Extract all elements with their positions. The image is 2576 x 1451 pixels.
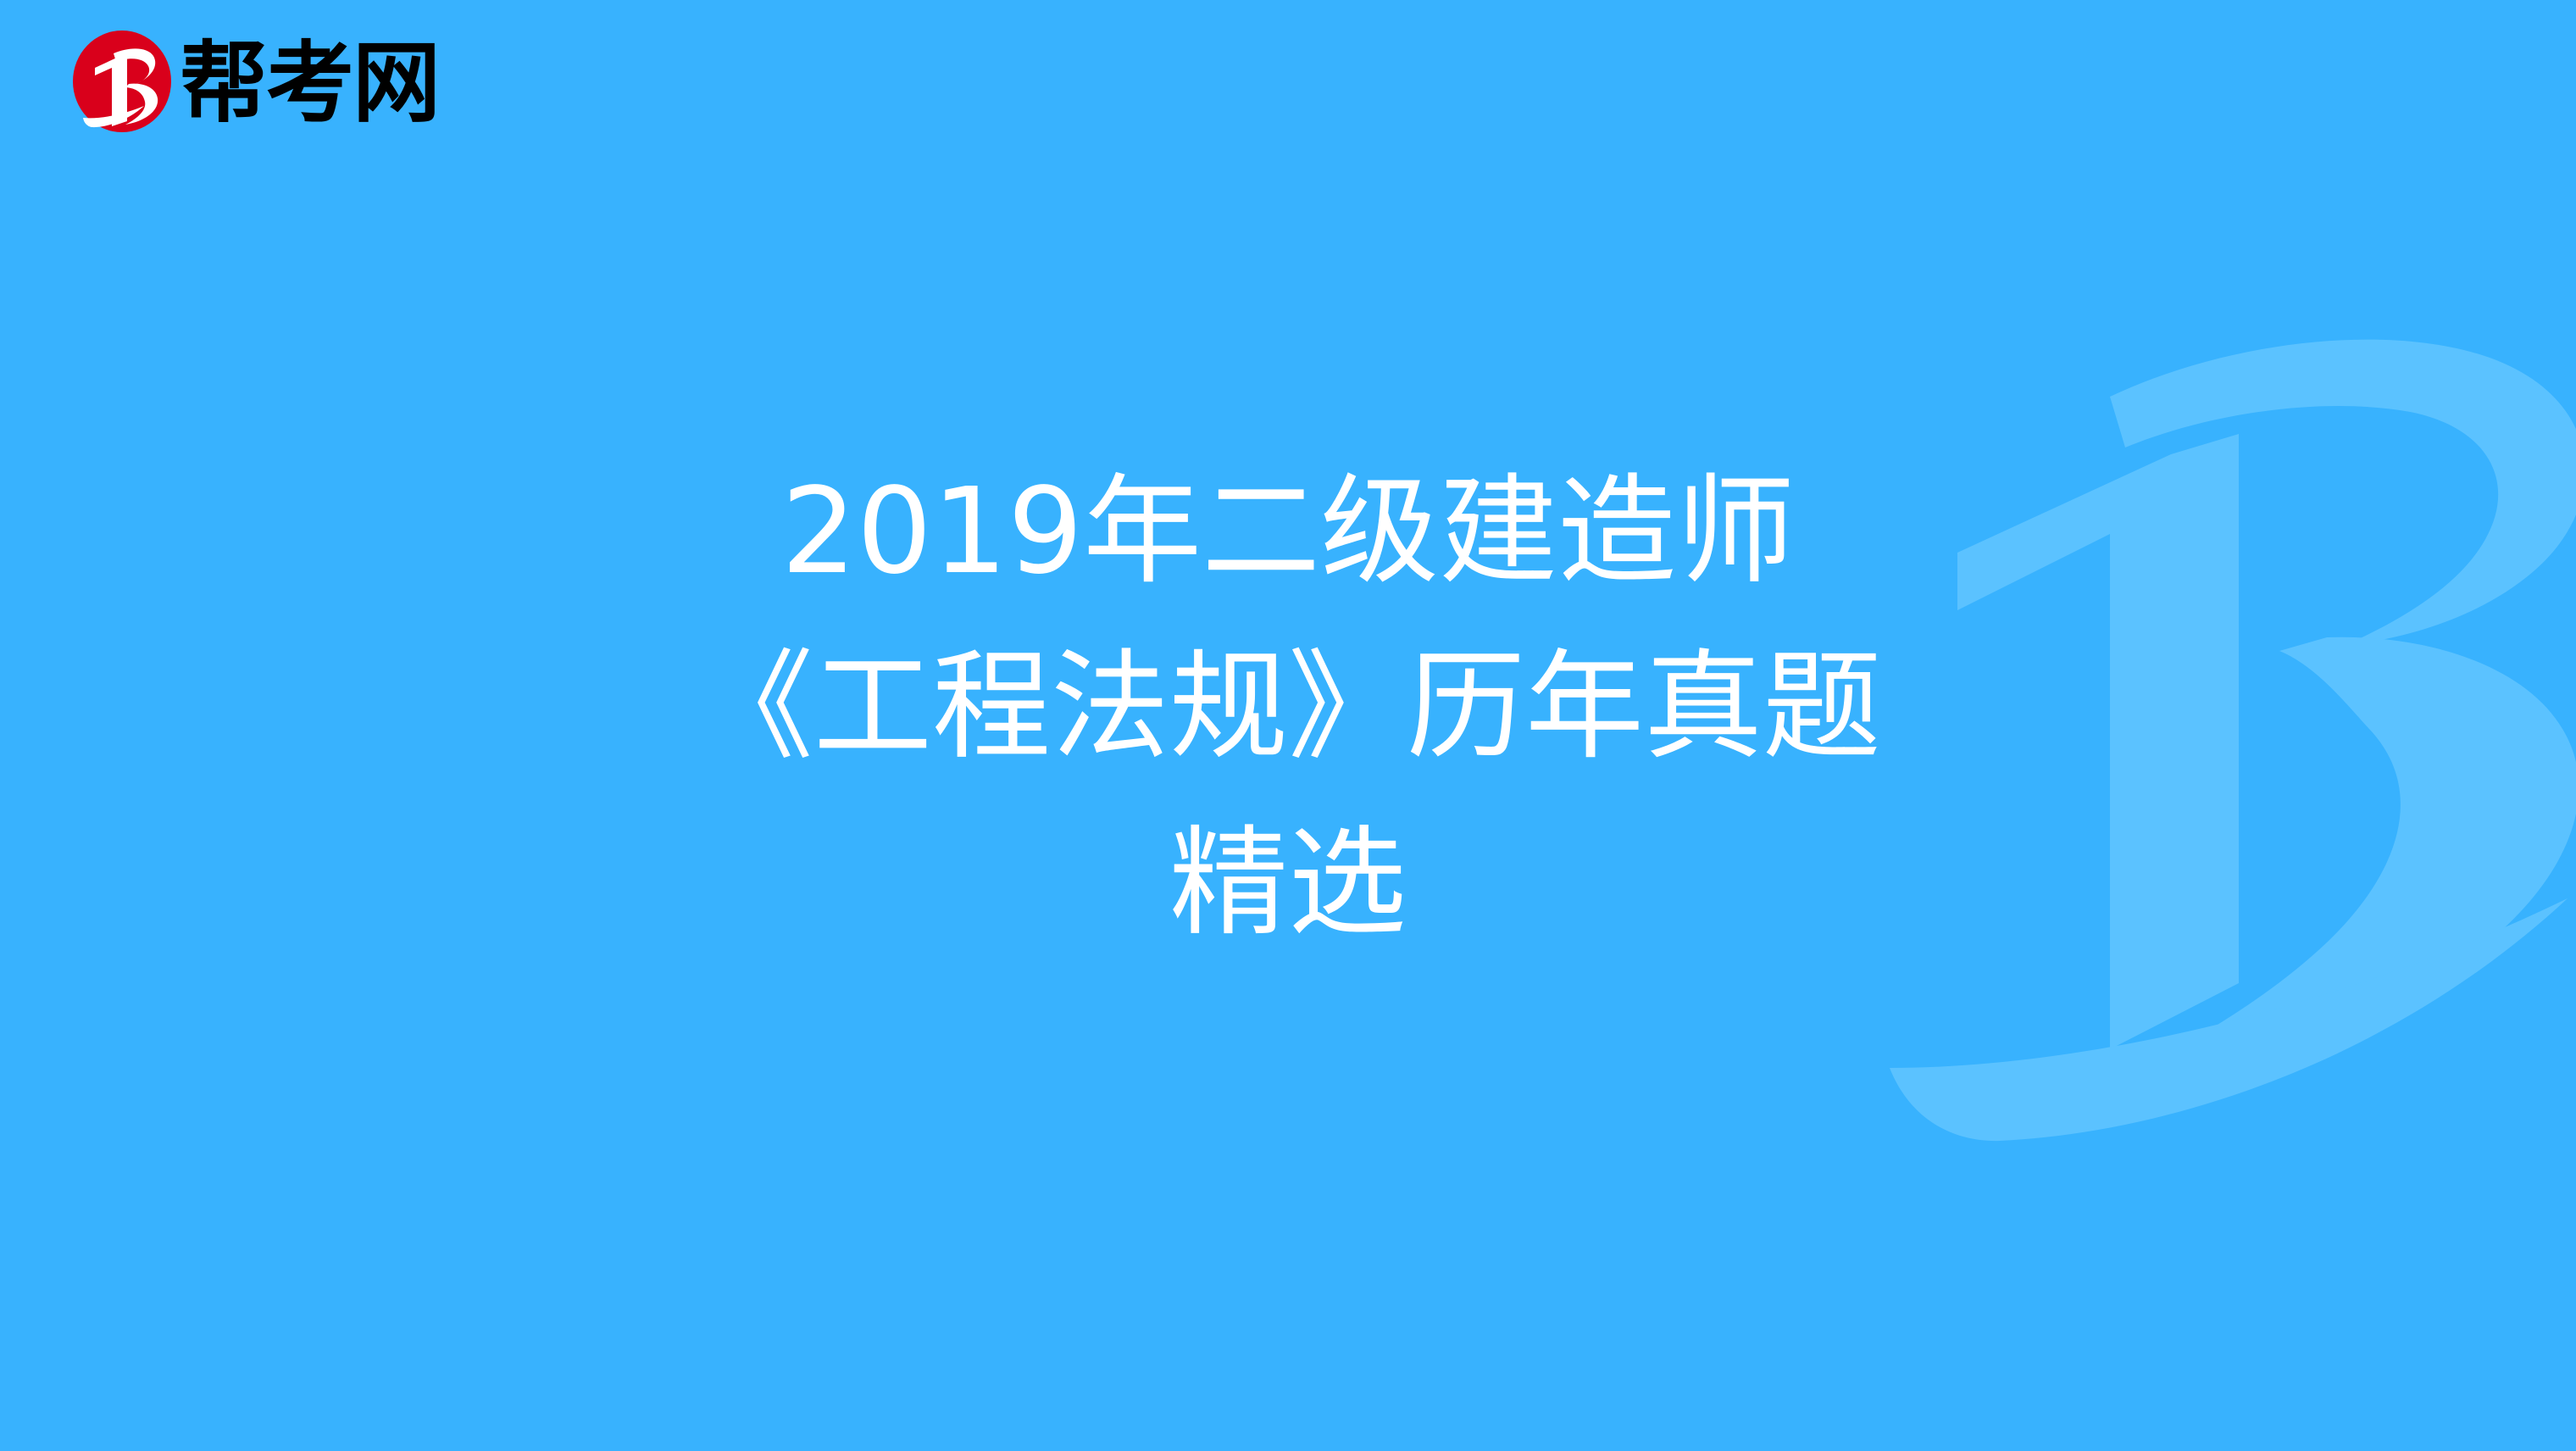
bangkaowang-b-watermark-icon (1890, 340, 2576, 1141)
page-title-line-3: 精选 (500, 796, 2076, 971)
page-title-line-2: 《工程法规》历年真题 (500, 620, 2076, 795)
brand-watermark (1856, 254, 2576, 1153)
page-title-line-1: 2019年二级建造师 (500, 444, 2076, 620)
page-title: 2019年二级建造师 《工程法规》历年真题 精选 (500, 444, 2076, 971)
brand-name: 帮考网 (180, 39, 439, 127)
bangkaowang-b-logo-icon (69, 28, 175, 138)
title-block: 2019年二级建造师 《工程法规》历年真题 精选 (0, 0, 2576, 1451)
slide-canvas: 帮考网 2019年二级建造师 《工程法规》历年真题 精选 (0, 0, 2576, 1451)
brand-logo[interactable]: 帮考网 (69, 25, 439, 141)
